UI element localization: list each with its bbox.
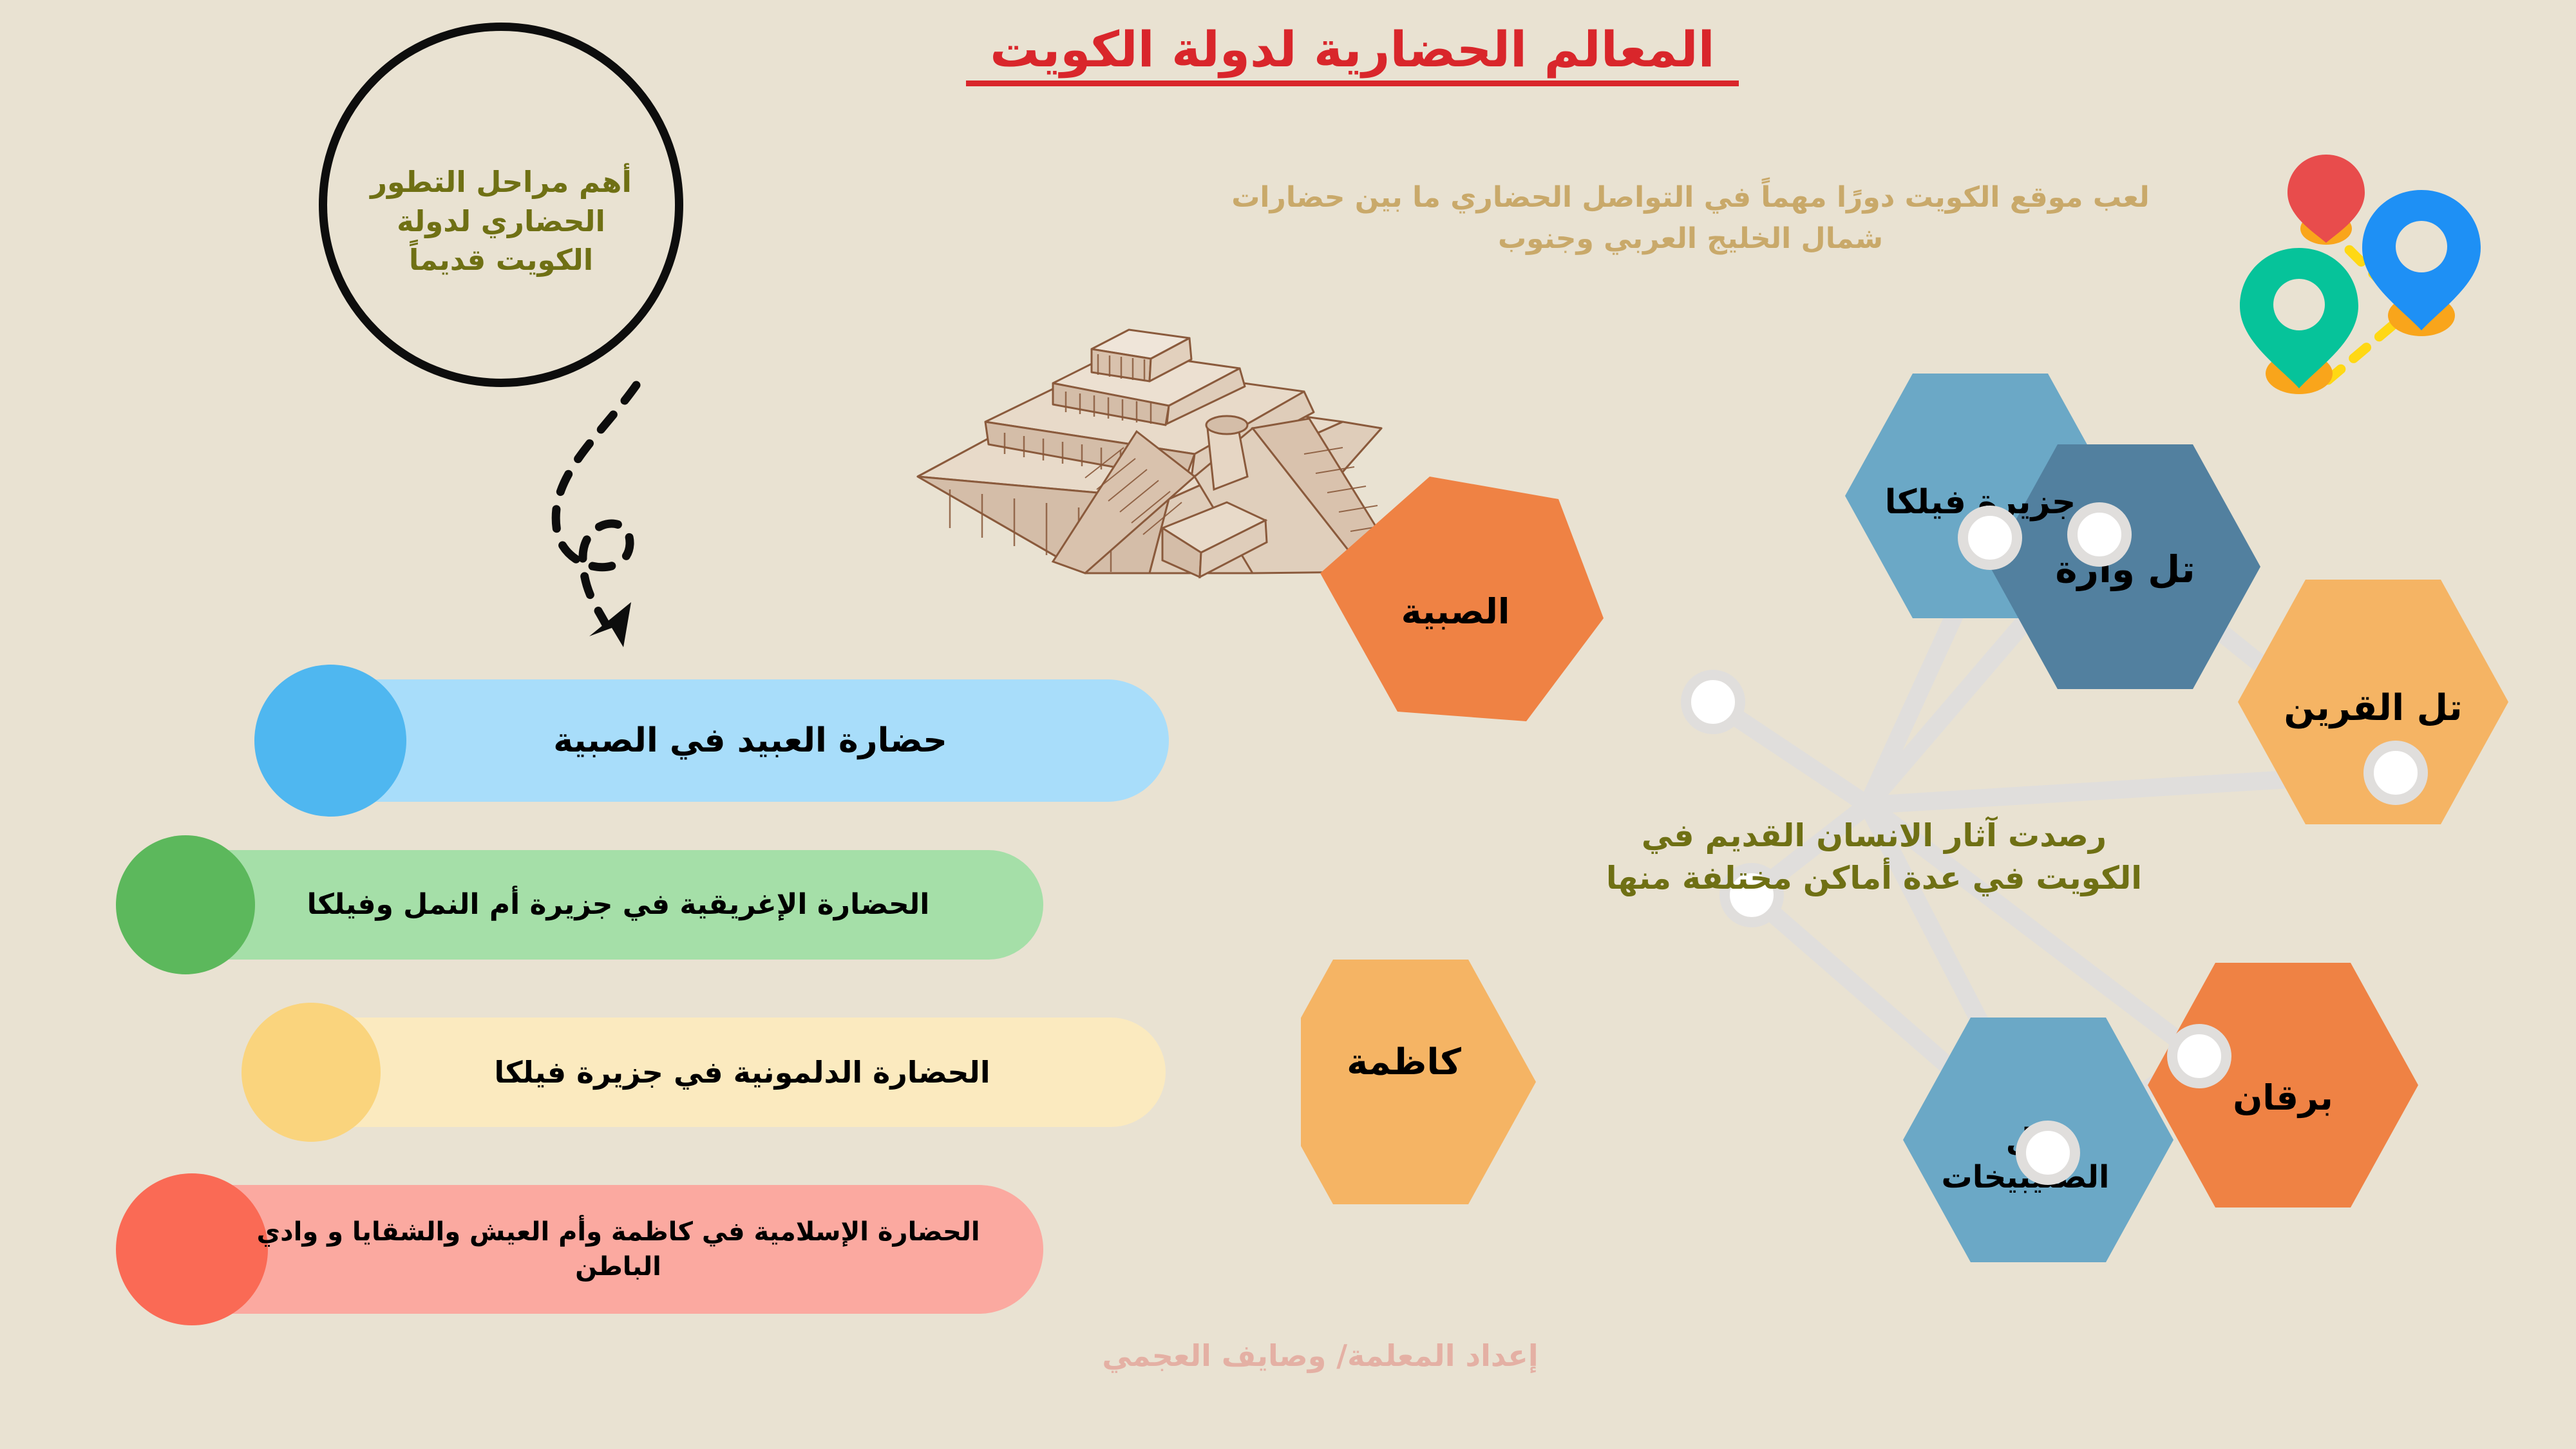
curly-arrow-icon — [522, 380, 734, 663]
stage-pill-1[interactable]: حضارة العبيد في الصبية — [293, 679, 1169, 802]
node-burgan[interactable] — [2167, 1024, 2231, 1088]
stage-label-2: الحضارة الإغريقية في جزيرة أم النمل وفيل… — [230, 885, 969, 923]
pin-red-icon — [2287, 155, 2365, 243]
credit-line: إعداد المعلمة/ وصايف العجمي — [1030, 1338, 1610, 1373]
callout-circle: أهم مراحل التطور الحضاري لدولة الكويت قد… — [319, 23, 683, 387]
stage-label-3: الحضارة الدلمونية في جزيرة فيلكا — [417, 1052, 1028, 1092]
site-label-kadhma[interactable]: كاظمة — [1294, 1024, 1513, 1101]
stage-label-4: الحضارة الإسلامية في كاظمة وأم العيش وال… — [155, 1215, 1043, 1284]
node-sabiya[interactable] — [1681, 670, 1745, 734]
network-center-note: رصدت آثار الانسان القديم في الكويت في عد… — [1584, 815, 2164, 900]
stage-pill-2[interactable]: الحضارة الإغريقية في جزيرة أم النمل وفيل… — [155, 850, 1043, 960]
stage-label-1: حضارة العبيد في الصبية — [476, 718, 986, 763]
callout-text: أهم مراحل التطور الحضاري لدولة الكويت قد… — [359, 163, 644, 280]
node-tell-wara[interactable] — [2067, 502, 2132, 567]
stage-pill-4[interactable]: الحضارة الإسلامية في كاظمة وأم العيش وال… — [155, 1185, 1043, 1314]
stage-knob-3 — [241, 1003, 381, 1142]
infographic-canvas: المعالم الحضارية لدولة الكويت لعب موقع ا… — [0, 0, 2576, 1449]
site-label-tell-qurain[interactable]: تل القرين — [2260, 670, 2486, 747]
page-subtitle: لعب موقع الكويت دورًا مهماً في التواصل ا… — [1224, 177, 2157, 260]
node-tell-sulaibikhat[interactable] — [2016, 1121, 2080, 1185]
page-title: المعالم الحضارية لدولة الكويت — [966, 23, 1739, 86]
node-tell-qurain[interactable] — [2363, 741, 2428, 805]
node-failaka[interactable] — [1958, 506, 2022, 570]
site-label-sabiya[interactable]: الصبية — [1346, 573, 1565, 650]
stage-pill-3[interactable]: الحضارة الدلمونية في جزيرة فيلكا — [280, 1018, 1166, 1127]
stage-knob-1 — [254, 665, 406, 817]
